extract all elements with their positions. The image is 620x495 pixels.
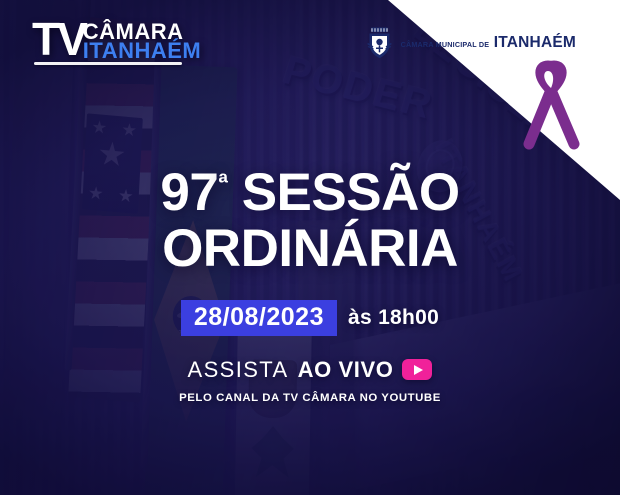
institution-line-2: ITANHAÉM (494, 34, 576, 51)
announcement-content: 97ª SESSÃO ORDINÁRIA 28/08/2023 às 18h00… (0, 168, 620, 404)
session-date: 28/08/2023 (181, 300, 337, 336)
purple-ribbon-icon (512, 60, 590, 152)
institution-logo: CÂMARA MUNICIPAL DE ITANHAÉM (365, 26, 576, 60)
institution-line-1: CÂMARA MUNICIPAL DE (401, 40, 490, 49)
session-time: às 18h00 (348, 306, 439, 330)
logo-underline (34, 62, 182, 65)
live-label: AO VIVO (298, 357, 394, 383)
institution-wordmark: CÂMARA MUNICIPAL DE ITANHAÉM (401, 35, 576, 51)
tv-wordmark: CÂMARA ITANHAÉM (83, 21, 201, 62)
headline-line-2: ORDINÁRIA (0, 224, 620, 274)
watch-live-line: ASSISTA AO VIVO (0, 357, 620, 383)
session-announcement-graphic: PODER LEGISLATIVO ITANHAÉM (0, 0, 620, 495)
page-title: 97ª SESSÃO ORDINÁRIA (0, 168, 620, 274)
tv-mark: TV (32, 18, 85, 60)
channel-note: PELO CANAL DA TV CÂMARA NO YOUTUBE (0, 392, 620, 404)
watch-label: ASSISTA (188, 357, 289, 383)
tv-logo-itanhaem: ITANHAÉM (83, 40, 201, 62)
date-time-bar: 28/08/2023 às 18h00 (181, 300, 439, 336)
tv-camara-logo: TV CÂMARA ITANHAÉM (32, 18, 201, 62)
coat-of-arms-icon (365, 26, 394, 60)
headline-line-1: SESSÃO (242, 163, 460, 222)
youtube-play-icon[interactable] (402, 359, 432, 380)
session-number: 97 (160, 163, 218, 222)
ordinal-suffix: ª (218, 167, 227, 197)
play-triangle-icon (414, 365, 423, 375)
